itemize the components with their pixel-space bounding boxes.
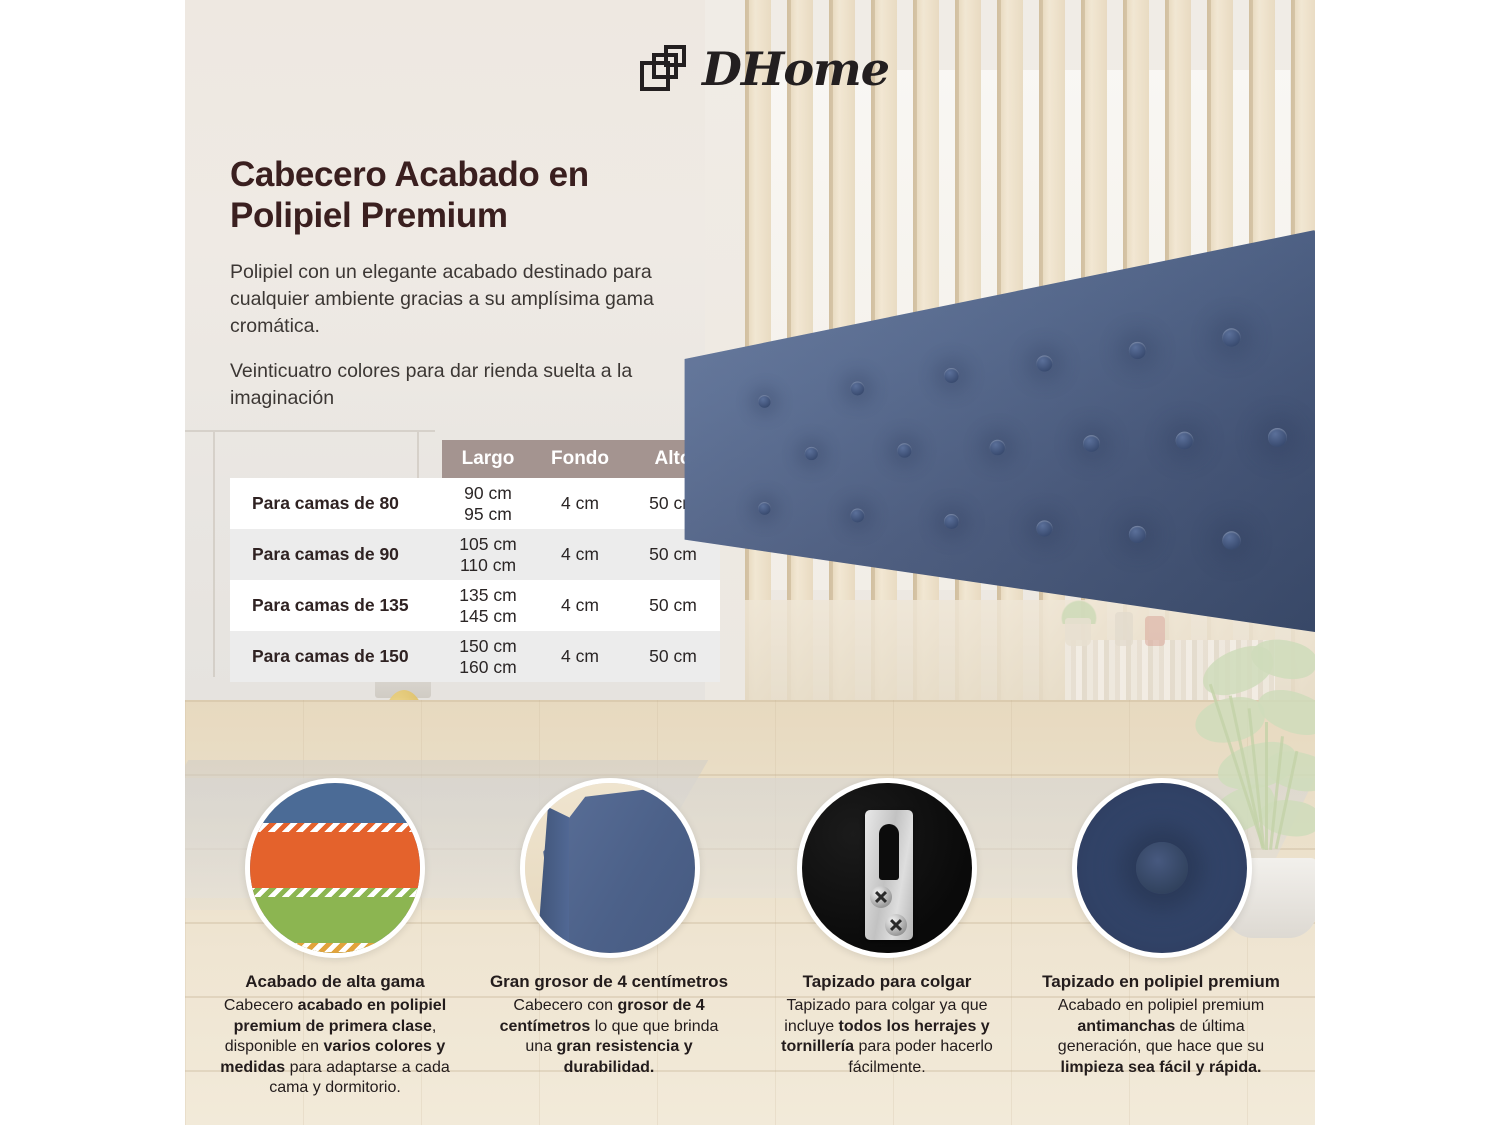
- cell-fondo: 4 cm: [534, 493, 626, 513]
- stacked-squares-icon: [640, 45, 688, 93]
- cell-fondo: 4 cm: [534, 544, 626, 564]
- cell-fondo: 4 cm: [534, 646, 626, 666]
- tufted-button-icon: [1176, 432, 1194, 450]
- tufted-button-icon: [944, 514, 959, 529]
- table-row: Para camas de 135135 cm145 cm4 cm50 cm: [230, 580, 720, 631]
- wall-panel-line: [185, 430, 435, 432]
- cell-largo: 135 cm145 cm: [442, 585, 534, 626]
- page-title-line1: Cabecero Acabado en: [230, 155, 589, 194]
- row-label: Para camas de 150: [230, 646, 442, 667]
- tufted-button-icon: [1083, 436, 1100, 453]
- wall-mount-bracket-icon: [865, 810, 913, 940]
- wall-panel-line: [213, 432, 215, 677]
- intro-paragraph-1: Polipiel con un elegante acabado destina…: [230, 259, 710, 340]
- cell-fondo: 4 cm: [534, 595, 626, 615]
- specifications-table: Largo Fondo Alto Para camas de 8090 cm95…: [230, 440, 720, 682]
- feature-caption: Tapizado en polipiel premium Acabado en …: [1037, 972, 1285, 1078]
- screw-icon: [870, 886, 892, 908]
- headboard-panel: [675, 230, 1315, 660]
- table-row: Para camas de 90105 cm110 cm4 cm50 cm: [230, 529, 720, 580]
- table-row: Para camas de 150150 cm160 cm4 cm50 cm: [230, 631, 720, 682]
- page-title-line2: Polipiel Premium: [230, 196, 508, 235]
- feature-title: Gran grosor de 4 centímetros: [485, 972, 733, 992]
- tufted-button-icon: [990, 439, 1006, 455]
- cell-largo: 90 cm95 cm: [442, 483, 534, 524]
- feature-image-bracket: [797, 778, 977, 958]
- feature-text: Tapizado para colgar ya que incluye todo…: [763, 996, 1011, 1078]
- tufted-button-icon: [1129, 342, 1146, 359]
- cell-largo: 105 cm110 cm: [442, 534, 534, 575]
- pinked-edge-icon: [245, 943, 425, 952]
- plant-leaf: [1252, 679, 1315, 745]
- keyhole-slot: [879, 824, 899, 880]
- product-infographic-plate: DHome Cabecero Acabado en Polipiel Premi…: [185, 0, 1315, 1125]
- feature-caption: Gran grosor de 4 centímetros Cabecero co…: [485, 972, 733, 1078]
- tufted-button-icon: [944, 368, 959, 383]
- plant-stem: [1265, 722, 1268, 850]
- brand-logo: DHome: [640, 35, 889, 103]
- tufted-button-icon: [1036, 355, 1052, 371]
- row-label: Para camas de 90: [230, 544, 442, 565]
- tufted-button-icon: [758, 502, 771, 515]
- feature-title: Tapizado para colgar: [763, 972, 1011, 992]
- feature-title: Tapizado en polipiel premium: [1037, 972, 1285, 992]
- page-title: Cabecero Acabado en Polipiel Premium: [230, 155, 710, 237]
- intro-paragraph-2: Veinticuatro colores para dar rienda sue…: [230, 358, 710, 412]
- feature-image-button-tuft: [1072, 778, 1252, 958]
- feature-title: Acabado de alta gama: [211, 972, 459, 992]
- tufted-button-icon: [1222, 532, 1240, 550]
- table-header-fondo: Fondo: [534, 448, 626, 470]
- feature-caption: Tapizado para colgar Tapizado para colga…: [763, 972, 1011, 1078]
- tufted-button-icon: [897, 443, 912, 458]
- tufted-button-icon: [1036, 520, 1052, 536]
- tufted-button-icon: [1129, 526, 1146, 543]
- product-image-headboard: [675, 230, 1315, 660]
- cell-largo: 150 cm160 cm: [442, 636, 534, 677]
- tufted-button-icon: [758, 395, 771, 408]
- table-row: Para camas de 8090 cm95 cm4 cm50 cm: [230, 478, 720, 529]
- tufted-button-icon: [1222, 328, 1240, 346]
- feature-image-fabric-swatches: [245, 778, 425, 958]
- tufted-button-icon: [1268, 428, 1287, 447]
- screw-icon: [885, 914, 907, 936]
- feature-caption: Acabado de alta gama Cabecero acabado en…: [211, 972, 459, 1099]
- feature-image-thickness: [520, 778, 700, 958]
- feature-text: Cabecero con grosor de 4 centímetros lo …: [485, 996, 733, 1078]
- tufted-button-icon: [851, 382, 865, 396]
- headline-block: Cabecero Acabado en Polipiel Premium Pol…: [230, 155, 710, 411]
- pinked-edge-icon: [245, 888, 425, 897]
- row-label: Para camas de 135: [230, 595, 442, 616]
- pinked-edge-icon: [245, 823, 425, 832]
- feature-text: Cabecero acabado en polipiel premium de …: [211, 996, 459, 1098]
- infographic-canvas: DHome Cabecero Acabado en Polipiel Premi…: [0, 0, 1500, 1125]
- table-header-largo: Largo: [442, 448, 534, 470]
- feature-text: Acabado en polipiel premium antimanchas …: [1037, 996, 1285, 1078]
- tufted-button-icon: [851, 508, 865, 522]
- tufted-button-icon: [1136, 842, 1188, 894]
- tufted-button-icon: [804, 447, 817, 460]
- row-label: Para camas de 80: [230, 493, 442, 514]
- brand-name: DHome: [702, 42, 889, 96]
